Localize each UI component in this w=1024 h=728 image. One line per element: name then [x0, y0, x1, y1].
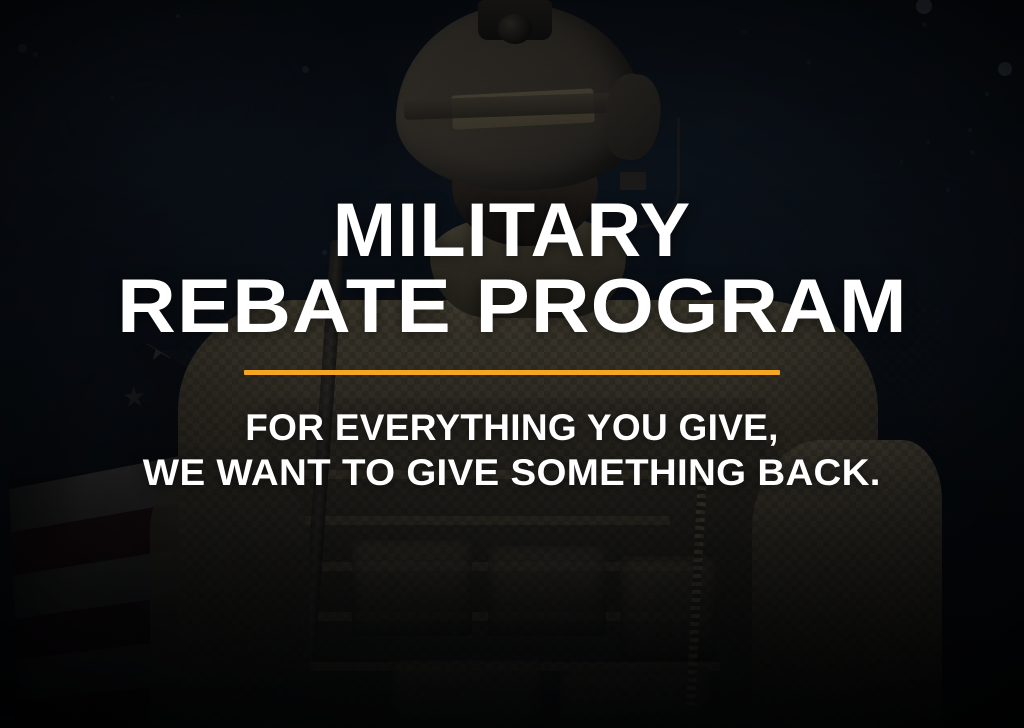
- headline-line-2: REBATE PROGRAM: [117, 272, 908, 342]
- subheadline-line-1: FOR EVERYTHING YOU GIVE,: [157, 405, 867, 450]
- page-title: MILITARY REBATE PROGRAM: [143, 196, 882, 342]
- accent-divider: [244, 370, 780, 375]
- banner-copy: MILITARY REBATE PROGRAM FOR EVERYTHING Y…: [0, 0, 1024, 728]
- headline-line-1: MILITARY: [143, 196, 882, 266]
- subheadline-line-2: WE WANT TO GIVE SOMETHING BACK.: [143, 450, 881, 495]
- subheadline: FOR EVERYTHING YOU GIVE, WE WANT TO GIVE…: [157, 405, 867, 495]
- military-rebate-hero-banner: MILITARY REBATE PROGRAM FOR EVERYTHING Y…: [0, 0, 1024, 728]
